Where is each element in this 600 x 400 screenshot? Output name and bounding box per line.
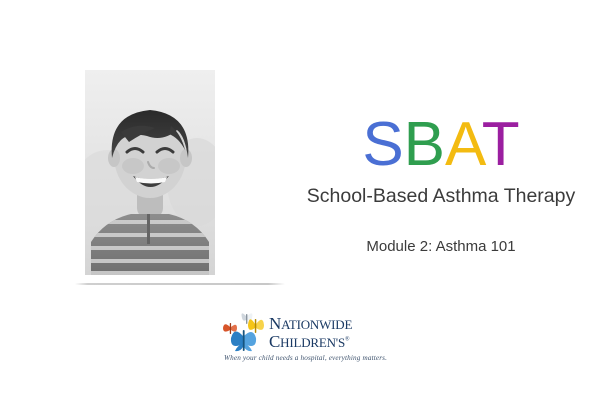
acronym-title: SBAT [296, 112, 586, 178]
acronym-letter-a: A [445, 110, 482, 179]
logo-childrens-rest: HILDREN [280, 335, 336, 350]
section-divider [75, 283, 285, 285]
logo-line-nationwide: NATIONWIDE [269, 315, 377, 332]
acronym-letter-t: T [482, 110, 520, 179]
hero-photo [85, 70, 215, 275]
logo-childrens-lead: C [269, 332, 280, 351]
logo-wordmark: NATIONWIDE CHILDREN'S® [268, 315, 377, 352]
logo-line-childrens: CHILDREN'S® [269, 333, 377, 350]
butterfly-mark-svg [222, 308, 268, 352]
logo-nationwide-lead: N [269, 314, 281, 333]
logo-tagline: When your child needs a hospital, everyt… [222, 354, 377, 363]
logo-nationwide-rest: ATIONWIDE [281, 317, 352, 332]
module-label: Module 2: Asthma 101 [296, 237, 586, 257]
title-block: SBAT School-Based Asthma Therapy Module … [296, 112, 586, 257]
acronym-letter-s: S [362, 110, 403, 179]
logo-childrens-tail: 'S [336, 335, 345, 350]
acronym-letter-b: B [404, 110, 445, 179]
registered-trademark-icon: ® [345, 336, 349, 342]
logo-row: NATIONWIDE CHILDREN'S® [222, 308, 377, 352]
child-photo-illustration [85, 70, 215, 275]
title-slide: SBAT School-Based Asthma Therapy Module … [0, 0, 600, 400]
butterflies-icon [222, 308, 268, 352]
subtitle: School-Based Asthma Therapy [296, 184, 586, 208]
nationwide-childrens-logo: NATIONWIDE CHILDREN'S® When your child n… [222, 308, 377, 366]
